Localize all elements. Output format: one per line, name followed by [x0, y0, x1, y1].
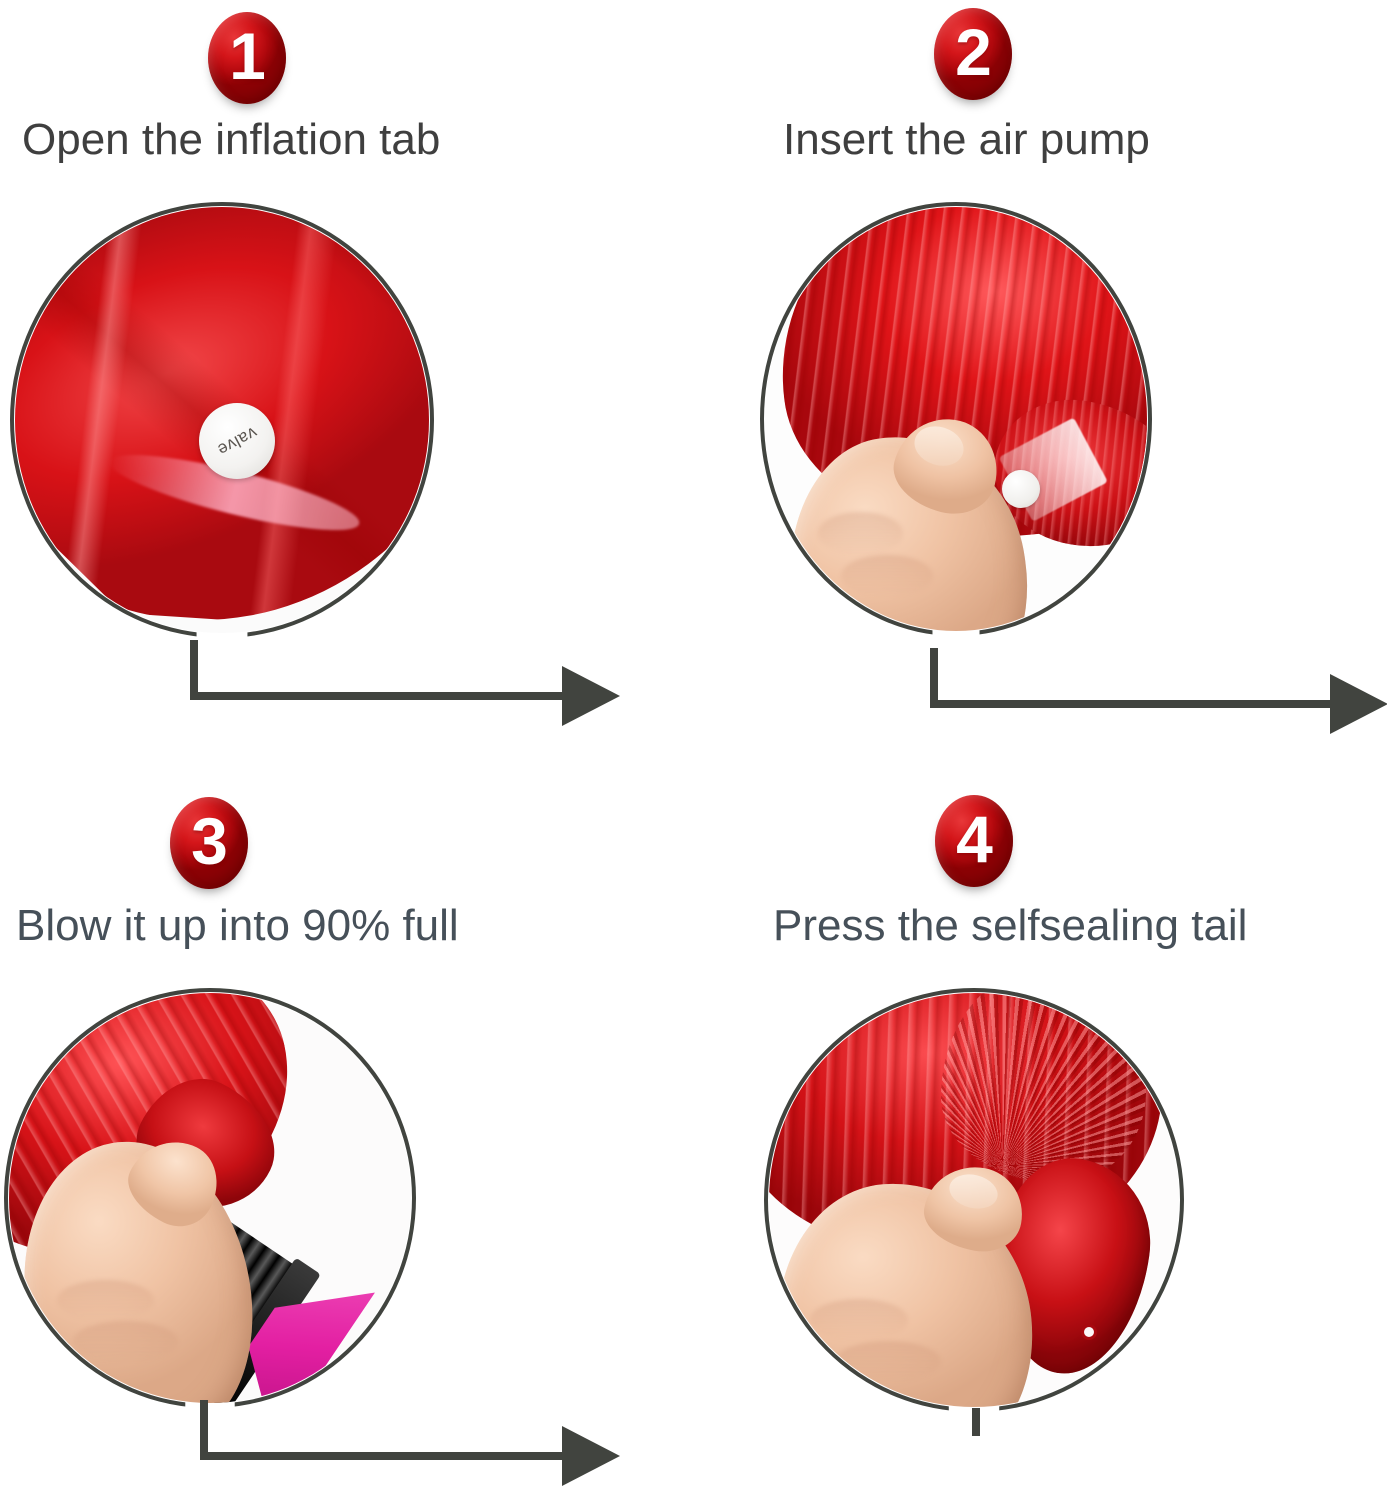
step-number-badge-3: 3 — [170, 797, 248, 889]
knuckle-crease — [818, 512, 902, 554]
knuckle-crease — [73, 1321, 178, 1362]
step-photo-3 — [9, 993, 411, 1403]
step-panel-3: 3 Blow it up into 90% full — [0, 750, 694, 1500]
step-number-1: 1 — [229, 23, 265, 89]
step-photo-bubble-2 — [760, 202, 1152, 636]
valve-sticker-2 — [1002, 470, 1040, 508]
step-panel-1: 1 Open the inflation tab valve — [0, 0, 694, 750]
step-panel-2: 2 Insert the air pump — [693, 0, 1387, 750]
valve-sticker: valve — [199, 403, 275, 479]
step-number-2: 2 — [955, 19, 991, 85]
step-photo-2 — [765, 207, 1147, 631]
instruction-infographic: 1 Open the inflation tab valve 2 Insert … — [0, 0, 1387, 1500]
knuckle-crease — [810, 1299, 908, 1340]
flow-arrow-stub-4 — [972, 1408, 1012, 1436]
step-number-badge-1: 1 — [208, 12, 286, 104]
valve-label: valve — [214, 422, 261, 459]
step-photo-1: valve — [15, 207, 429, 633]
step-caption-2: Insert the air pump — [783, 116, 1150, 164]
knuckle-crease — [57, 1280, 153, 1321]
step-number-4: 4 — [956, 806, 992, 872]
knuckle-crease — [835, 1341, 942, 1382]
step-number-3: 3 — [191, 808, 227, 874]
step-photo-4 — [769, 993, 1179, 1407]
flow-arrow-2 — [930, 648, 1387, 740]
knuckle-crease — [841, 555, 933, 597]
step-photo-bubble-1: valve — [10, 202, 434, 638]
step-number-badge-4: 4 — [935, 795, 1013, 887]
flow-arrow-1 — [190, 640, 620, 732]
step-panel-4: 4 Press the selfsealing tail — [693, 750, 1387, 1500]
step-number-badge-2: 2 — [934, 8, 1012, 100]
step-caption-4: Press the selfsealing tail — [773, 902, 1247, 950]
step-photo-bubble-3 — [4, 988, 416, 1408]
foil-fan-pleats — [941, 993, 1146, 1183]
step-caption-3: Blow it up into 90% full — [16, 902, 459, 950]
flow-arrow-3 — [200, 1400, 620, 1492]
step-caption-1: Open the inflation tab — [22, 116, 440, 164]
tail-hole — [1081, 1324, 1097, 1340]
step-photo-bubble-4 — [764, 988, 1184, 1412]
